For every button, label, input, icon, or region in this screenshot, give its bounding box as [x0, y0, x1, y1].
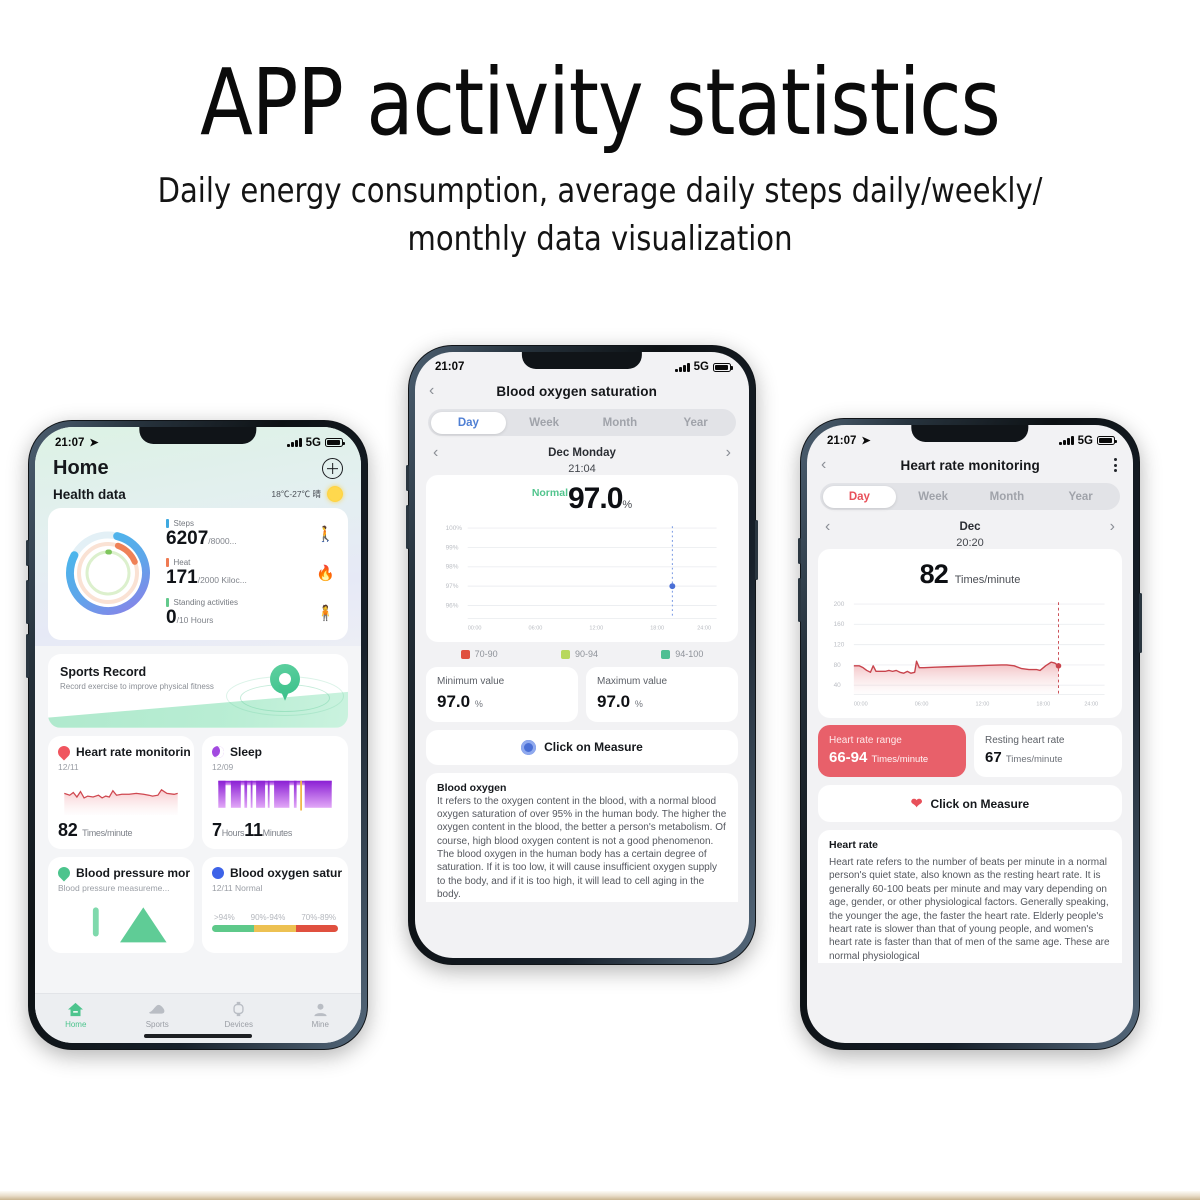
home-indicator	[144, 1034, 252, 1038]
health-data-label: Health data	[53, 487, 126, 502]
location-arrow-icon: ➤	[89, 436, 98, 449]
tile-blood-oxygen[interactable]: Blood oxygen satur 12/11 Normal >94% 90%…	[202, 857, 348, 953]
stat-label: Minimum value	[437, 676, 567, 689]
tile-blood-pressure[interactable]: Blood pressure mor Blood pressure measur…	[48, 857, 194, 953]
stat-label: Heart rate range	[829, 735, 955, 746]
tab-label: Sports	[117, 1020, 199, 1029]
tile-date: 12/09	[212, 762, 338, 772]
page-title: Blood oxygen saturation	[496, 384, 657, 399]
reading-time: 20:20	[807, 536, 1133, 549]
tab-home[interactable]: Home	[35, 1000, 117, 1029]
phone-mockup-heart-rate: 21:07 ➤ 5G ‹ Heart rate monitoring Day W…	[800, 418, 1140, 1050]
nav-bar: ‹ Blood oxygen saturation	[415, 375, 749, 407]
plus-circle-icon[interactable]	[322, 458, 343, 479]
date-navigator: ‹ Dec Monday ›	[415, 436, 749, 462]
svg-text:24:00: 24:00	[1084, 701, 1098, 707]
desk-surface	[0, 1191, 1200, 1200]
segment-day[interactable]: Day	[823, 486, 897, 508]
chevron-left-icon[interactable]: ‹	[433, 445, 438, 461]
spo2-range-label: 90%-94%	[251, 913, 286, 922]
segment-month[interactable]: Month	[970, 486, 1044, 508]
phone-mockup-home: 21:07 ➤ 5G Home Health data	[28, 420, 368, 1050]
tile-sleep[interactable]: Sleep 12/09	[202, 736, 348, 849]
date-label: Dec Monday	[548, 447, 616, 459]
reading-value: 82	[920, 559, 948, 589]
info-title: Blood oxygen	[437, 782, 727, 794]
svg-text:18:00: 18:00	[650, 625, 664, 631]
chevron-left-icon[interactable]: ‹	[429, 383, 434, 399]
tile-row-1: Heart rate monitorin 12/11 82 Times/minu…	[48, 736, 348, 849]
tile-value-2: 11	[244, 820, 262, 840]
metric-value: 171	[166, 567, 198, 588]
svg-text:96%: 96%	[446, 602, 459, 609]
health-metric-list: Steps 6207/8000... 🚶 Heat 171/2000 Kiloc…	[164, 519, 338, 628]
health-data-row: Health data 18℃-27℃ 晴	[35, 484, 361, 508]
legend-label: 94-100	[675, 649, 703, 659]
tile-heart-rate[interactable]: Heart rate monitorin 12/11 82 Times/minu…	[48, 736, 194, 849]
hero-section: APP activity statistics Daily energy con…	[0, 52, 1200, 264]
metric-value: 6207	[166, 528, 208, 549]
tab-sports[interactable]: Sports	[117, 1000, 199, 1029]
home-header: Home	[35, 451, 361, 484]
chevron-left-icon[interactable]: ‹	[821, 457, 826, 473]
shoe-icon	[117, 1000, 199, 1018]
spo2-reading: Normal97.0%	[432, 479, 732, 517]
info-body: Heart rate refers to the number of beats…	[829, 856, 1111, 963]
segment-week[interactable]: Week	[506, 412, 582, 434]
reading-unit: Times/minute	[955, 574, 1021, 586]
measure-button-label: Click on Measure	[544, 740, 643, 754]
metric-heat: Heat 171/2000 Kiloc... 🔥	[166, 558, 338, 588]
chevron-right-icon[interactable]: ›	[726, 445, 731, 461]
stat-card-resting-heart-rate: Resting heart rate 67 Times/minute	[974, 725, 1122, 777]
stat-unit: Times/minute	[872, 754, 929, 765]
measure-button[interactable]: Click on Measure	[426, 730, 738, 765]
svg-text:200: 200	[834, 601, 845, 608]
signal-bars-icon	[287, 438, 302, 447]
metric-label: Heat	[174, 558, 191, 567]
house-icon	[35, 1000, 117, 1018]
metric-label: Steps	[174, 519, 194, 528]
tile-unit: Hours	[222, 828, 245, 838]
tile-title: Blood oxygen satur	[230, 866, 342, 880]
spo2-chart-card: Normal97.0% 100%99% 98%97%96%	[426, 475, 738, 642]
screen-heart-rate: 21:07 ➤ 5G ‹ Heart rate monitoring Day W…	[807, 425, 1133, 1043]
svg-text:00:00: 00:00	[854, 701, 868, 707]
location-arrow-icon: ➤	[861, 434, 870, 447]
screen-home: 21:07 ➤ 5G Home Health data	[35, 427, 361, 1043]
tab-label: Mine	[280, 1020, 362, 1029]
droplet-icon	[56, 864, 73, 881]
heart-rate-sparkline	[58, 779, 184, 815]
home-title: Home	[53, 457, 109, 480]
battery-icon	[325, 438, 343, 447]
weather-widget: 18℃-27℃ 晴	[271, 486, 343, 502]
svg-text:97%: 97%	[446, 583, 459, 590]
stat-label: Maximum value	[597, 676, 727, 689]
map-pin-icon	[270, 664, 300, 704]
heart-rate-stat-cards: Heart rate range 66-94 Times/minute Rest…	[818, 725, 1122, 777]
network-label: 5G	[694, 361, 709, 373]
battery-icon	[713, 363, 731, 372]
more-vertical-icon[interactable]	[1114, 458, 1117, 471]
svg-text:99%: 99%	[446, 544, 459, 551]
tile-subtitle: Blood pressure measureme...	[58, 883, 184, 893]
svg-text:06:00: 06:00	[915, 701, 929, 707]
svg-text:12:00: 12:00	[589, 625, 603, 631]
legend-item: 90-94	[561, 649, 598, 659]
sports-record-card[interactable]: Sports Record Record exercise to improve…	[48, 654, 348, 728]
tile-value: 82	[58, 820, 77, 840]
svg-text:80: 80	[834, 662, 842, 669]
spo2-icon	[521, 740, 536, 755]
metric-label: Standing activities	[174, 598, 238, 607]
stat-label: Resting heart rate	[985, 735, 1111, 746]
tile-title: Heart rate monitorin	[76, 745, 191, 759]
standing-icon: 🧍	[316, 604, 335, 622]
stat-unit: Times/minute	[1006, 754, 1063, 765]
status-time: 21:07	[827, 435, 856, 447]
page-subtitle: Daily energy consumption, average daily …	[30, 167, 1170, 264]
metric-unit: /2000 Kiloc...	[198, 575, 247, 585]
battery-icon	[1097, 436, 1115, 445]
home-gradient-header: 21:07 ➤ 5G Home Health data	[35, 427, 361, 646]
tile-title: Sleep	[230, 745, 262, 759]
legend-item: 70-90	[461, 649, 498, 659]
spo2-info-card: Blood oxygen It refers to the oxygen con…	[426, 773, 738, 902]
metric-standing: Standing activities 0/10 Hours 🧍	[166, 598, 338, 628]
chevron-right-icon[interactable]: ›	[1110, 519, 1115, 535]
svg-text:12:00: 12:00	[976, 701, 990, 707]
tile-subtitle: 12/11 Normal	[212, 883, 338, 893]
circle-blue-icon	[212, 867, 224, 879]
svg-text:06:00: 06:00	[529, 625, 543, 631]
tile-date: 12/11	[58, 762, 184, 772]
notch	[139, 427, 256, 444]
poster-page: APP activity statistics Daily energy con…	[0, 0, 1200, 1200]
tile-value: 7	[212, 820, 222, 840]
segment-week[interactable]: Week	[896, 486, 970, 508]
spo2-stat-cards: Minimum value 97.0 % Maximum value 97.0 …	[426, 667, 738, 722]
heart-icon	[56, 743, 73, 760]
activity-rings	[56, 521, 160, 625]
spo2-range-label: 70%-89%	[301, 913, 336, 922]
heart-rate-chart-card: 82Times/minute 200160 1208040	[818, 549, 1122, 718]
stat-card-heart-rate-range: Heart rate range 66-94 Times/minute	[818, 725, 966, 777]
metric-value: 0	[166, 607, 177, 628]
stat-value: 97.0	[437, 692, 470, 711]
date-navigator: ‹ Dec ›	[807, 510, 1133, 536]
svg-text:100%: 100%	[446, 525, 463, 532]
spo2-range-label: >94%	[214, 913, 235, 922]
signal-bars-icon	[1059, 436, 1074, 445]
tile-row-2: Blood pressure mor Blood pressure measur…	[48, 857, 348, 953]
stat-value: 97.0	[597, 692, 630, 711]
weather-text: 18℃-27℃ 晴	[271, 488, 321, 500]
notch	[522, 352, 642, 369]
stat-unit: %	[635, 699, 643, 709]
reading-unit: %	[622, 499, 632, 511]
watch-icon	[198, 1000, 280, 1018]
spo2-legend: 70-90 90-94 94-100	[415, 642, 749, 661]
measure-button[interactable]: ❤ Click on Measure	[818, 785, 1122, 822]
walking-icon: 🚶	[316, 525, 335, 543]
tab-label: Devices	[198, 1020, 280, 1029]
info-body: It refers to the oxygen content in the b…	[437, 795, 727, 902]
page-title: APP activity statistics	[42, 52, 1158, 153]
nav-bar: ‹ Heart rate monitoring	[807, 449, 1133, 481]
health-rings-card[interactable]: Steps 6207/8000... 🚶 Heat 171/2000 Kiloc…	[48, 508, 348, 640]
network-label: 5G	[1078, 435, 1093, 447]
svg-text:120: 120	[834, 641, 845, 648]
heart-pulse-icon: ❤	[911, 795, 923, 812]
segment-month[interactable]: Month	[582, 412, 658, 434]
svg-text:160: 160	[834, 621, 845, 628]
measure-button-label: Click on Measure	[931, 797, 1030, 811]
svg-text:18:00: 18:00	[1036, 701, 1050, 707]
chevron-left-icon[interactable]: ‹	[825, 519, 830, 535]
sleep-bar-chart	[212, 779, 338, 815]
stat-card-minimum: Minimum value 97.0 %	[426, 667, 578, 722]
metric-unit: /10 Hours	[177, 615, 214, 625]
svg-text:98%: 98%	[446, 564, 459, 571]
svg-text:40: 40	[834, 682, 842, 689]
tile-title: Blood pressure mor	[76, 866, 190, 880]
flame-icon: 🔥	[316, 564, 335, 582]
phone-mockup-spo2: 21:07 5G ‹ Blood oxygen saturation Day W…	[408, 345, 756, 965]
tab-devices[interactable]: Devices	[198, 1000, 280, 1029]
metric-unit: /8000...	[208, 536, 236, 546]
heart-rate-line-chart: 200160 1208040 00:0006:00 12:0018:002	[824, 593, 1116, 711]
status-time: 21:07	[55, 437, 84, 449]
legend-item: 94-100	[661, 649, 703, 659]
legend-label: 90-94	[575, 649, 598, 659]
tile-unit-2: Minutes	[263, 828, 292, 838]
segment-year[interactable]: Year	[658, 412, 734, 434]
info-title: Heart rate	[829, 839, 1111, 851]
screen-spo2: 21:07 5G ‹ Blood oxygen saturation Day W…	[415, 352, 749, 958]
sun-icon	[327, 486, 343, 502]
metric-steps: Steps 6207/8000... 🚶	[166, 519, 338, 549]
tile-unit: Times/minute	[82, 828, 132, 838]
period-segmented-control: Day Week Month Year	[820, 483, 1120, 510]
legend-label: 70-90	[475, 649, 498, 659]
spo2-range-bar	[212, 925, 338, 932]
svg-text:24:00: 24:00	[697, 625, 711, 631]
moon-icon	[212, 746, 224, 758]
segment-year[interactable]: Year	[1044, 486, 1118, 508]
page-title: Heart rate monitoring	[900, 458, 1039, 473]
date-label: Dec	[959, 521, 980, 533]
stat-unit: %	[475, 699, 483, 709]
reading-time: 21:04	[415, 462, 749, 475]
segment-day[interactable]: Day	[431, 412, 507, 434]
network-label: 5G	[306, 437, 321, 449]
reading-value: 97.0	[568, 482, 622, 515]
heart-rate-reading: 82Times/minute	[824, 553, 1116, 593]
heart-rate-info-card: Heart rate Heart rate refers to the numb…	[818, 830, 1122, 963]
status-time: 21:07	[435, 361, 464, 373]
tab-label: Home	[35, 1020, 117, 1029]
svg-text:00:00: 00:00	[468, 625, 482, 631]
reading-status: Normal	[532, 487, 568, 499]
signal-bars-icon	[675, 363, 690, 372]
blood-pressure-graphic	[58, 899, 184, 943]
period-segmented-control: Day Week Month Year	[428, 409, 736, 436]
notch	[911, 425, 1028, 442]
spo2-line-chart: 100%99% 98%97%96% 00:0006:00 12:0018:002…	[432, 517, 732, 635]
stat-value: 66-94	[829, 749, 867, 766]
tab-mine[interactable]: Mine	[280, 1000, 362, 1029]
stat-value: 67	[985, 749, 1002, 766]
person-icon	[280, 1000, 362, 1018]
stat-card-maximum: Maximum value 97.0 %	[586, 667, 738, 722]
